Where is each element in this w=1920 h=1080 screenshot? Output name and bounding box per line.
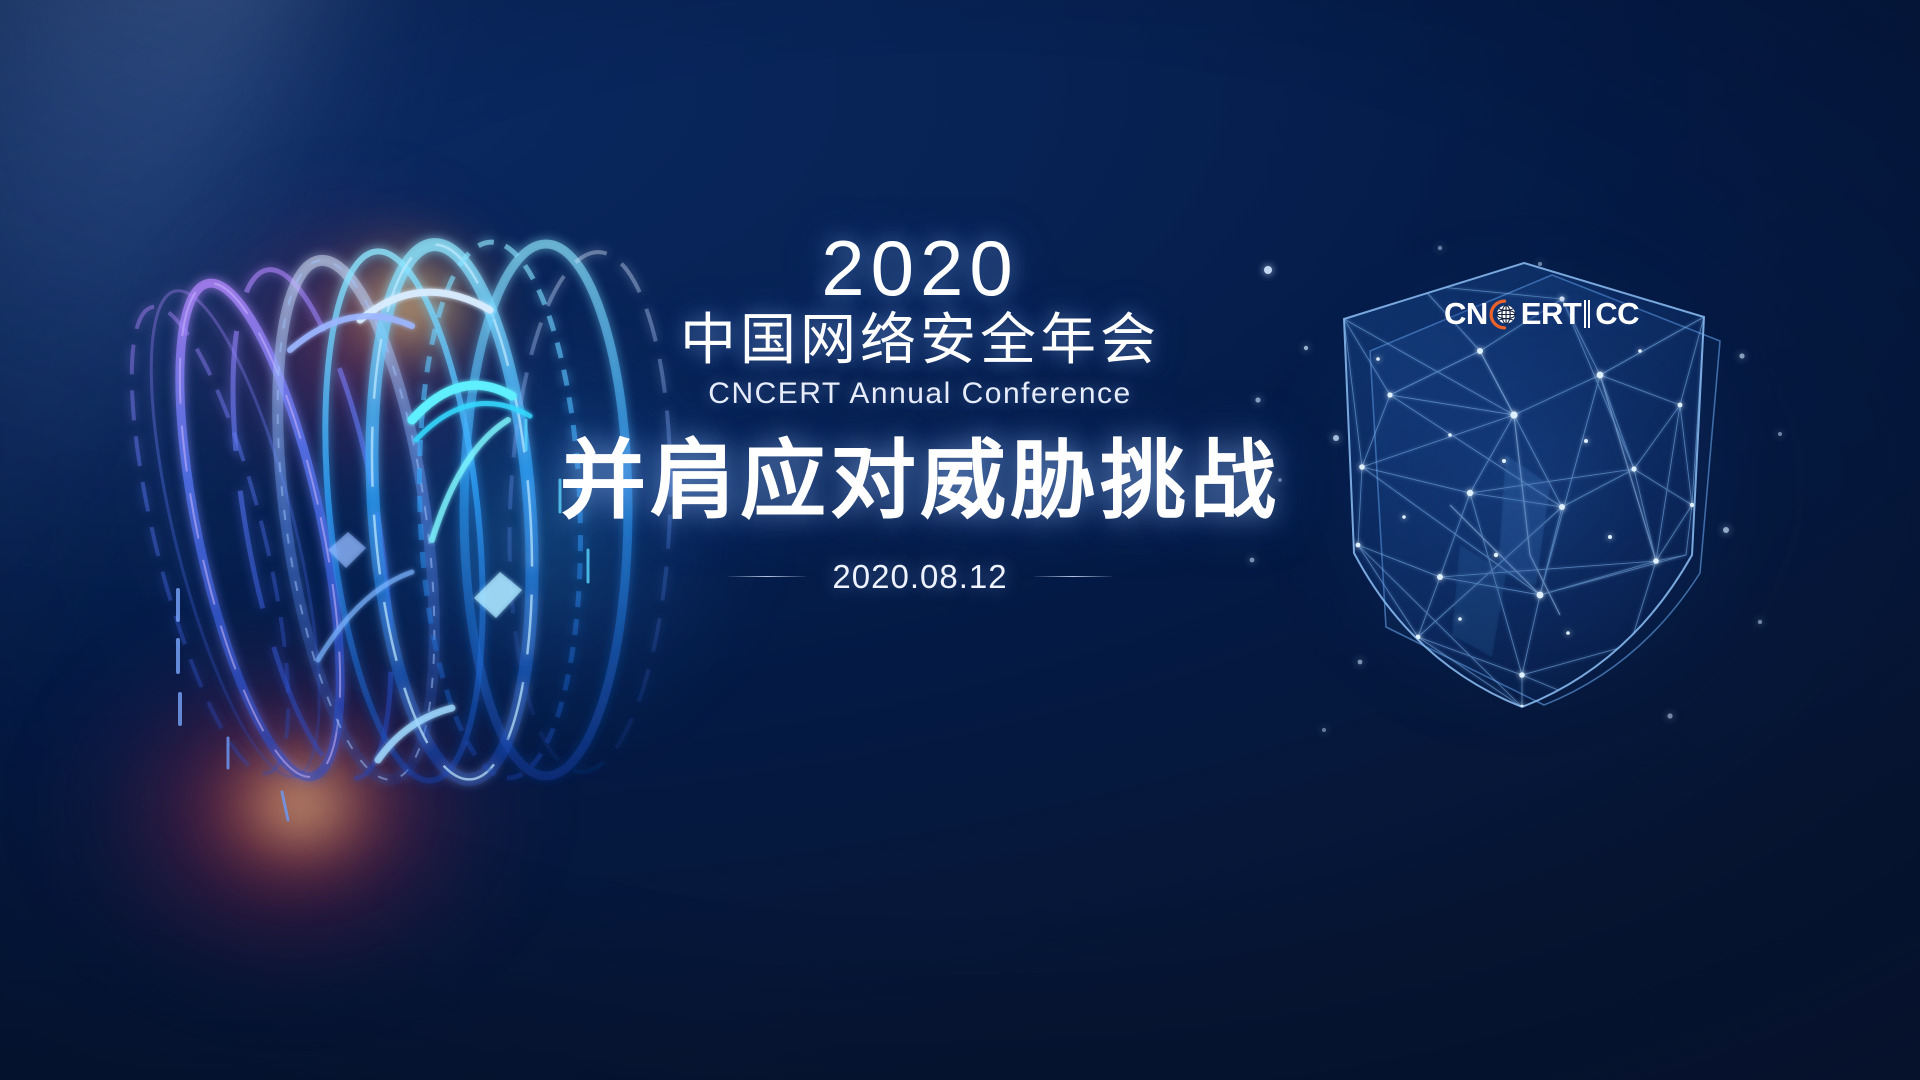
cncert-cc-logo: CN ERTCC xyxy=(1444,296,1639,332)
logo-text-left: CN xyxy=(1444,296,1488,332)
logo-separator-bar xyxy=(1584,300,1591,328)
logo-text-mid: ERT xyxy=(1521,296,1582,332)
globe-icon xyxy=(1489,299,1520,330)
conference-poster: CN ERTCC 2020 中国网络安全年会 CNCERT Annual Con… xyxy=(0,0,1920,1080)
date-rule-right xyxy=(1034,576,1112,577)
conference-date: 2020.08.12 xyxy=(832,558,1007,596)
date-row: 2020.08.12 xyxy=(540,558,1300,596)
conference-slogan: 并肩应对威胁挑战 xyxy=(540,435,1300,528)
conference-title-en: CNCERT Annual Conference xyxy=(540,374,1300,413)
conference-title-cn: 中国网络安全年会 xyxy=(540,310,1300,369)
year-heading: 2020 xyxy=(540,230,1300,306)
poster-text-block: 2020 中国网络安全年会 CNCERT Annual Conference 并… xyxy=(540,230,1300,596)
logo-text-right: CC xyxy=(1595,296,1639,332)
date-rule-left xyxy=(728,576,806,577)
